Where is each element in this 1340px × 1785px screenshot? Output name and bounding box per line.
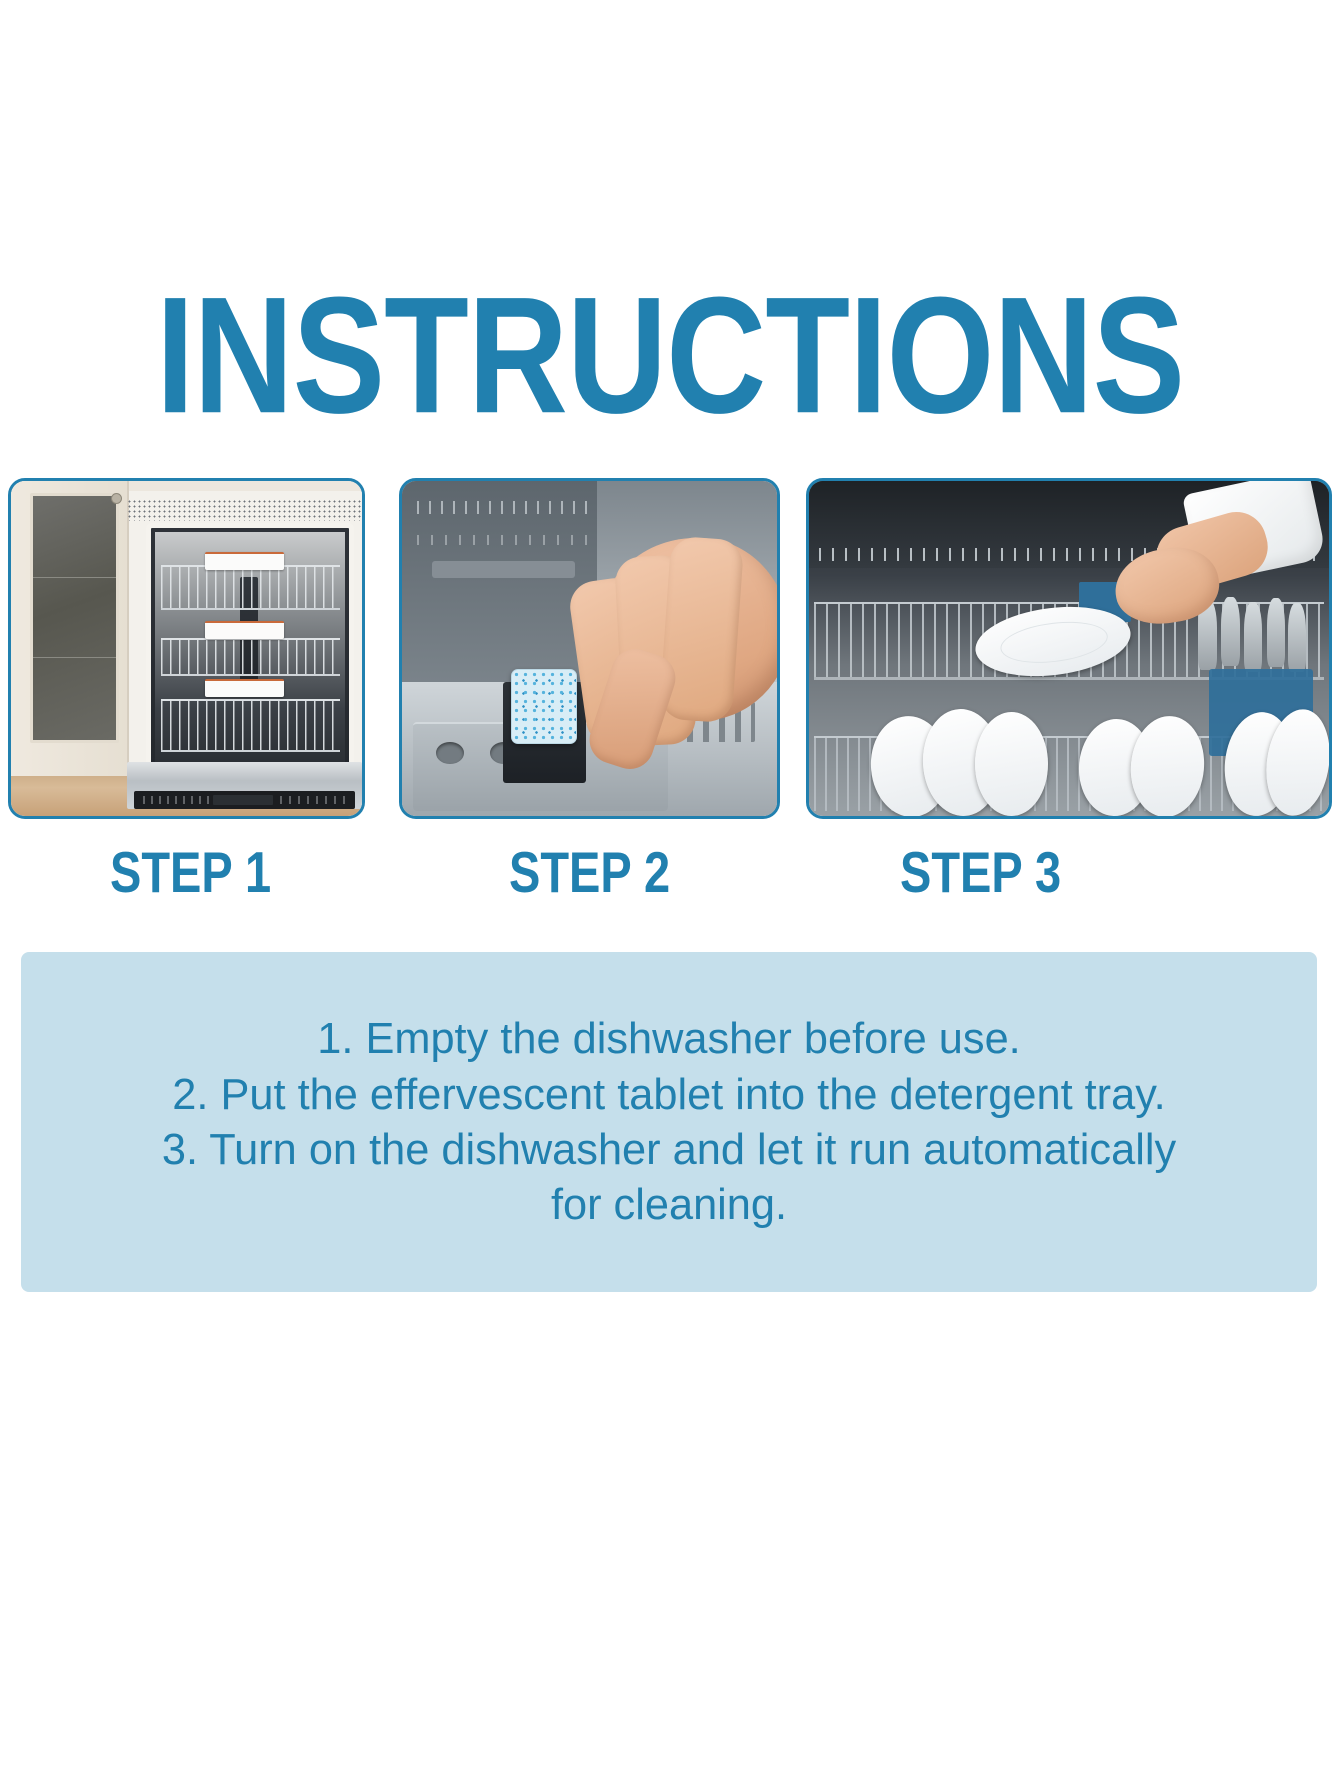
cabinet-glass-panel [30, 493, 119, 744]
rack-label-bottom [205, 679, 284, 697]
instruction-line-3: 3. Turn on the dishwasher and let it run… [31, 1122, 1308, 1177]
instructions-panel: 1. Empty the dishwasher before use. 2. P… [21, 952, 1317, 1292]
control-buttons-right [280, 796, 346, 804]
instruction-line-1: 1. Empty the dishwasher before use. [31, 1011, 1308, 1066]
instructions-infographic: INSTRUCTIONS [0, 0, 1340, 1785]
arm [1111, 481, 1319, 628]
control-buttons-left [143, 796, 209, 804]
rack-label-middle [205, 621, 284, 639]
loading-plates-photo [806, 478, 1332, 819]
page-title: INSTRUCTIONS [0, 272, 1340, 438]
step-label-1: STEP 1 [110, 843, 271, 900]
finger-ring [658, 536, 743, 723]
tray-hole-left [436, 742, 464, 765]
plate [975, 712, 1048, 816]
step-label-row: STEP 1 STEP 2 STEP 3 [0, 843, 1340, 913]
lower-rack [161, 699, 339, 752]
dishwasher-cavity [146, 523, 354, 778]
dishwasher-control-panel [134, 791, 355, 809]
hand-placing-tablet-photo [399, 478, 780, 819]
step-label-2: STEP 2 [509, 843, 670, 900]
step-image-row [0, 478, 1340, 823]
step-label-3: STEP 3 [900, 843, 1061, 900]
hand [530, 491, 778, 786]
rack-label-top [205, 552, 284, 570]
cabinet-knob-icon [111, 493, 122, 504]
instruction-line-4: for cleaning. [31, 1177, 1308, 1232]
open-empty-dishwasher-photo [8, 478, 365, 819]
kitchen-cabinet [11, 481, 129, 776]
instructions-text: 1. Empty the dishwasher before use. 2. P… [21, 1011, 1317, 1233]
granite-countertop [127, 499, 362, 521]
instruction-line-2: 2. Put the effervescent tablet into the … [31, 1067, 1308, 1122]
middle-rack [161, 638, 339, 676]
upper-rack [161, 565, 339, 611]
